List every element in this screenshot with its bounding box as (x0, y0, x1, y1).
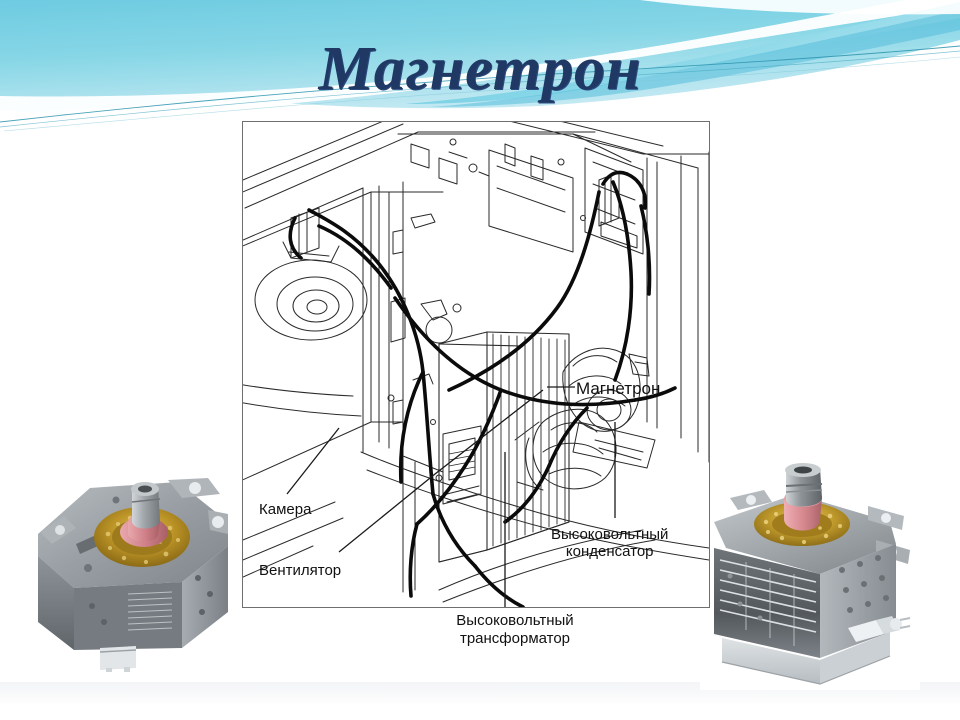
caption-line2: трансформатор (460, 630, 570, 647)
label-capacitor-line1: Высоковольтный (551, 526, 668, 543)
magnetron-photo-right (700, 458, 920, 690)
caption-high-voltage-transformer: Высоковольтный трансформатор (380, 612, 650, 648)
label-chamber: Камера (259, 501, 311, 518)
slide-root: Магнетрон (0, 0, 960, 720)
microwave-cutaway-diagram: Магнетрон Камера Вентилятор Высоковольтн… (242, 121, 710, 608)
label-magnetron: Магнетрон (576, 379, 660, 399)
magnetron-photo-left (32, 472, 232, 672)
label-capacitor-line2: конденсатор (566, 543, 654, 560)
caption-line1: Высоковольтный (456, 612, 573, 629)
label-fan: Вентилятор (259, 562, 341, 579)
page-title: Магнетрон (0, 34, 960, 105)
label-high-voltage-capacitor: Высоковольтный конденсатор (551, 526, 668, 561)
